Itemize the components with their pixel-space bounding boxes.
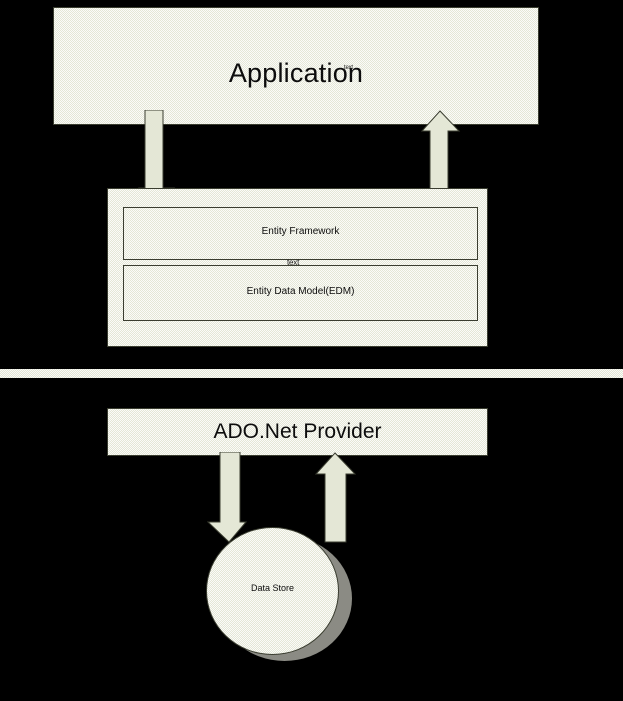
application-label: Application [54,58,538,89]
application-box: Application text [53,7,539,125]
ado-net-provider-label: ADO.Net Provider [108,420,487,444]
application-stray-text-label: text [344,65,353,71]
entity-data-model-label: Entity Data Model(EDM) [124,286,477,297]
section-divider [0,369,623,378]
diagram-canvas: Application text Entity Framework text E… [0,0,623,701]
data-store-to-provider-arrow [314,452,356,544]
entity-framework-box: Entity Framework [123,207,478,260]
provider-to-data-store-arrow [207,452,247,544]
data-store-circle: Data Store [206,527,339,655]
entity-framework-label: Entity Framework [124,226,477,237]
ado-net-provider-box: ADO.Net Provider [107,408,488,456]
data-store-label: Data Store [207,583,338,593]
entity-data-model-box: Entity Data Model(EDM) [123,265,478,321]
